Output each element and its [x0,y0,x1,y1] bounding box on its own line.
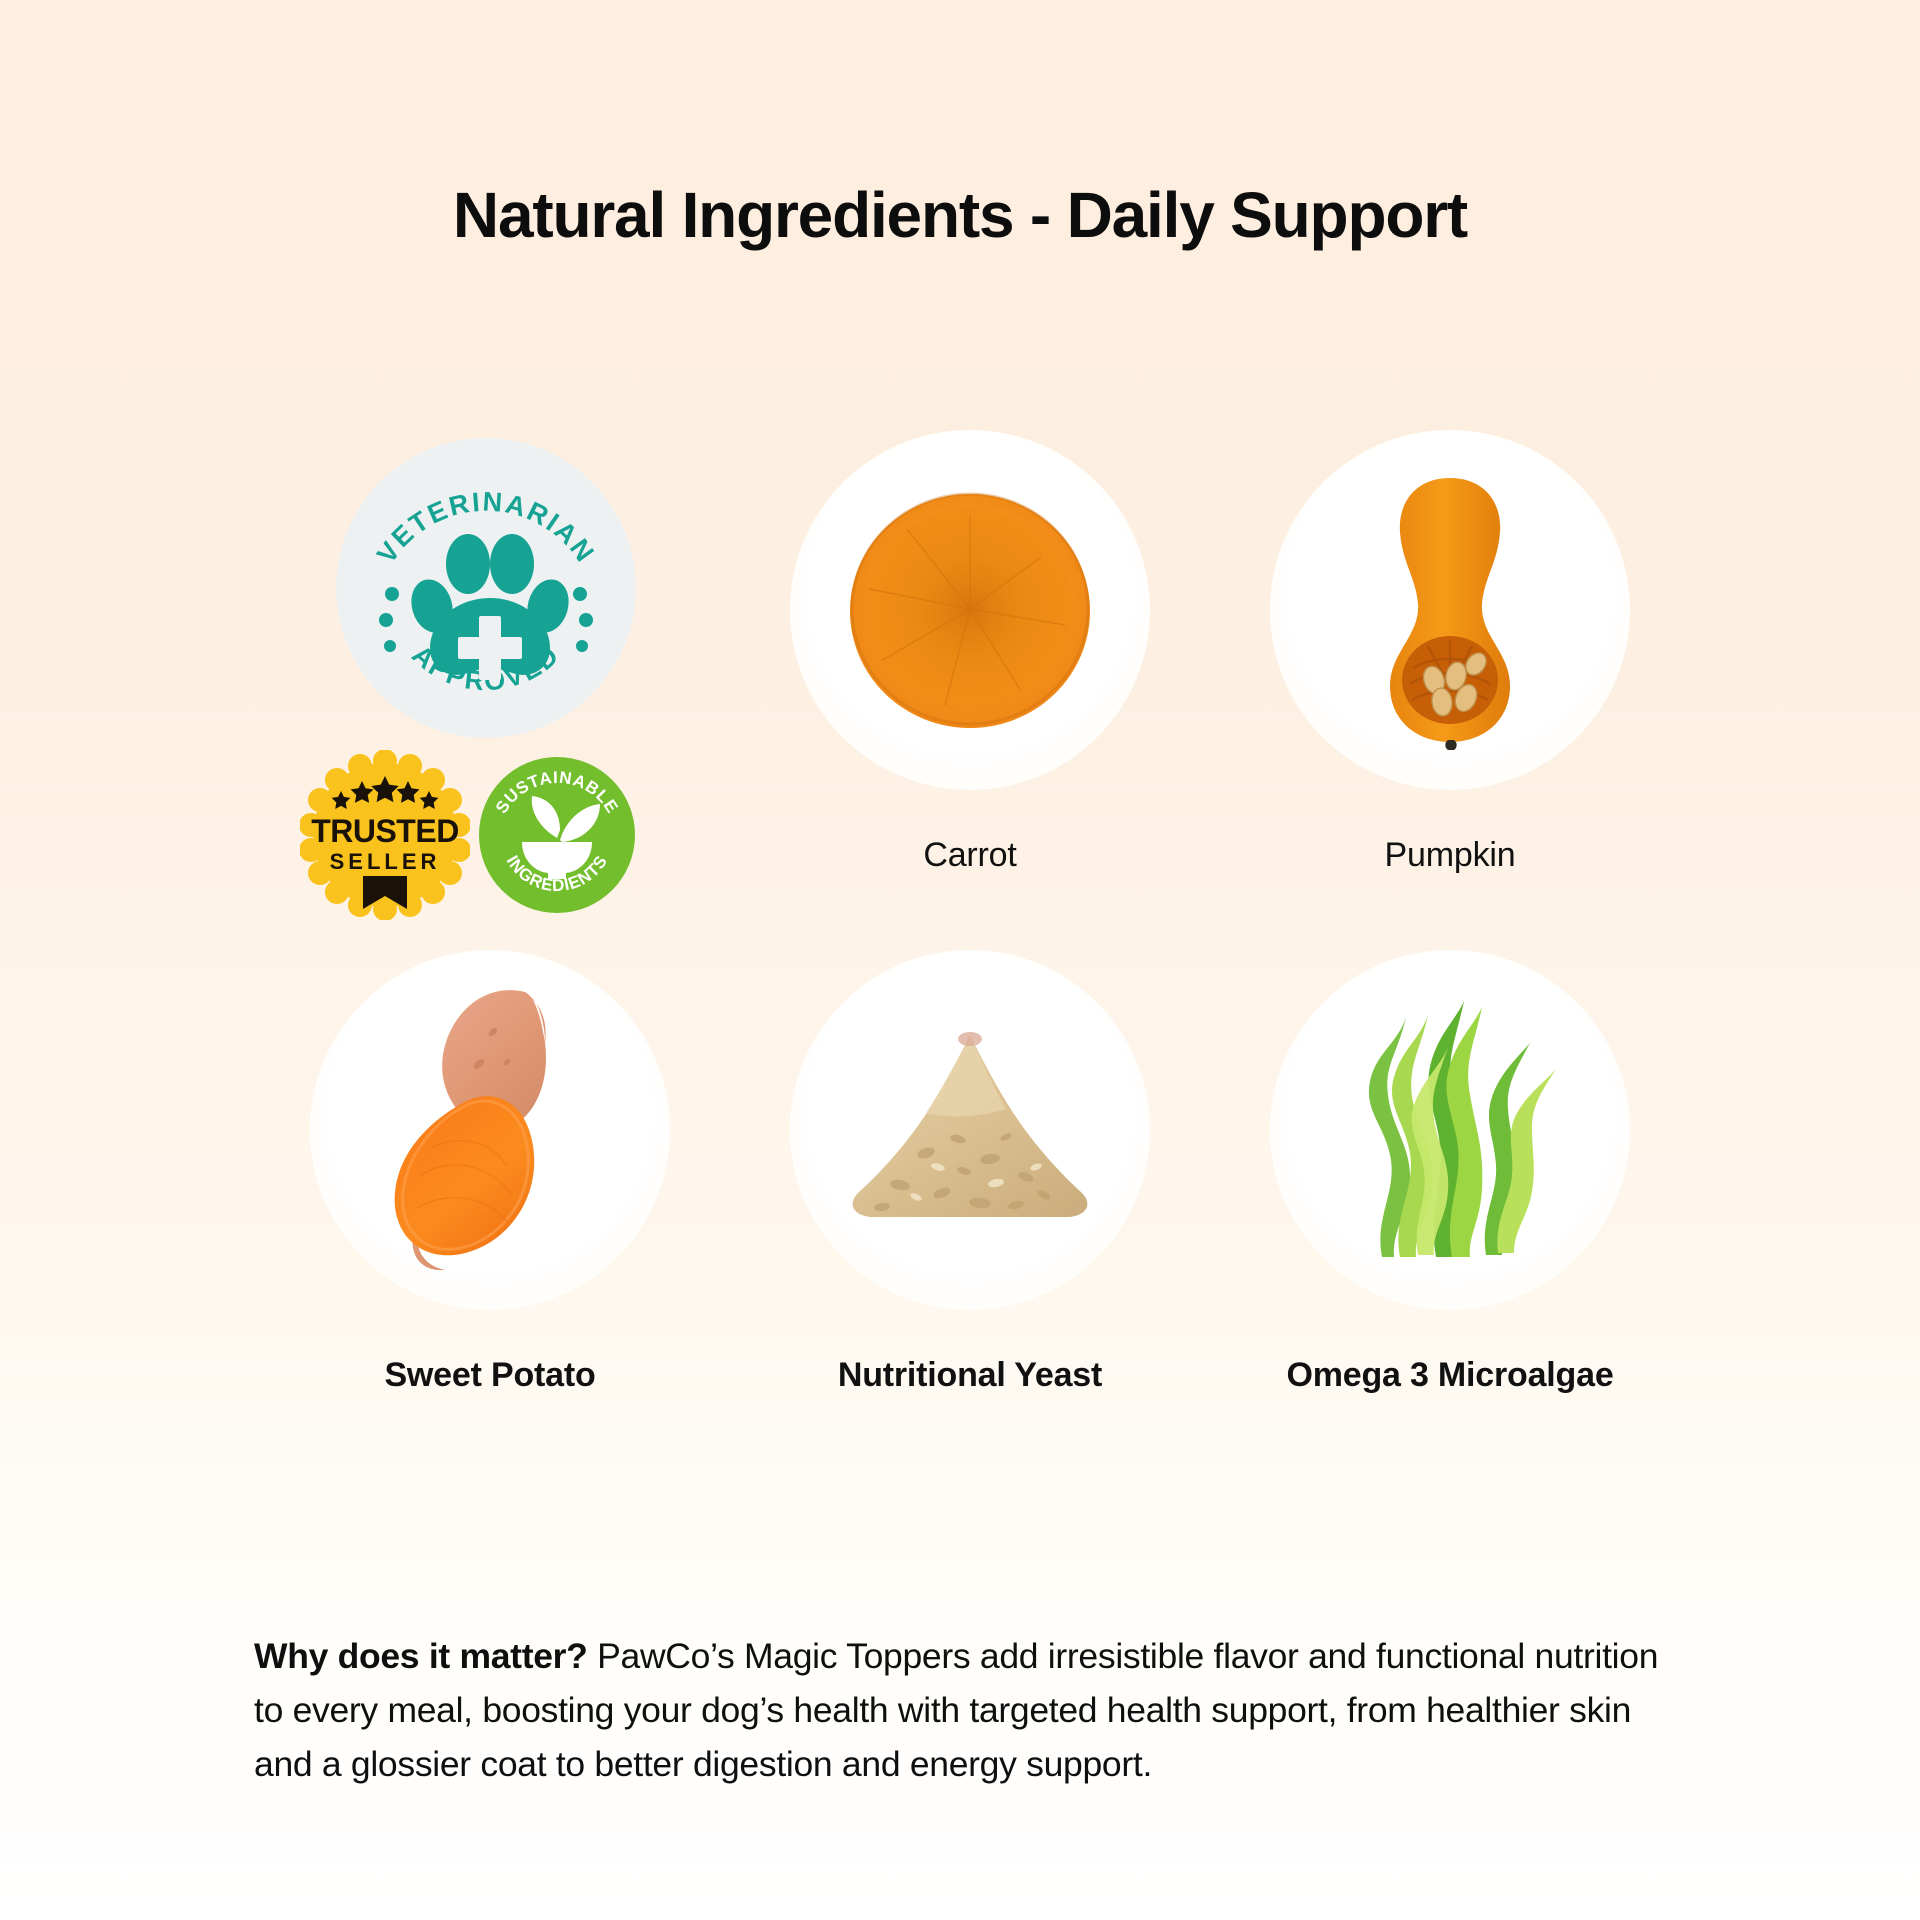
trusted-seller-svg: TRUSTED SELLER [300,750,470,920]
seaweed-algae-image [1340,995,1560,1265]
sustainable-badge-svg: SUSTAINABLE INGREDIENTS [472,750,642,920]
sweet-potato-image [375,980,605,1280]
veterinarian-approved-badge: VETERINARIAN APPROVED [336,438,636,738]
ingredients-infographic: Natural Ingredients - Daily Support VETE… [0,0,1920,1920]
why-it-matters-paragraph: Why does it matter? PawCo’s Magic Topper… [254,1630,1674,1792]
ingredient-cell-pumpkin: Pumpkin [1210,430,1690,950]
veterinarian-badge-svg: VETERINARIAN APPROVED [336,438,636,738]
butternut-squash-image [1350,470,1550,750]
ingredient-cell-sweet-potato: Sweet Potato [250,950,730,1470]
trusted-label: TRUSTED [311,813,459,849]
ingredient-label: Nutritional Yeast [838,1356,1102,1395]
ingredient-cell-carrot: Carrot [730,430,1210,950]
badge-cluster-cell: VETERINARIAN APPROVED [250,430,730,950]
ingredient-disc [1270,950,1630,1310]
ingredient-cell-omega-3-microalgae: Omega 3 Microalgae [1210,950,1690,1470]
trusted-seller-badge: TRUSTED SELLER [300,750,470,920]
why-it-matters-lead: Why does it matter? [254,1636,588,1676]
ingredient-disc [790,950,1150,1310]
ingredient-label: Pumpkin [1385,836,1516,875]
ingredient-grid: VETERINARIAN APPROVED [250,430,1690,1470]
ingredient-disc [310,950,670,1310]
badges: VETERINARIAN APPROVED [290,430,690,910]
ingredient-disc [790,430,1150,790]
ingredient-label: Carrot [923,836,1016,875]
carrot-slice-image [845,485,1095,735]
seller-label: SELLER [330,849,441,874]
page-title: Natural Ingredients - Daily Support [0,178,1920,252]
ingredient-disc [1270,430,1630,790]
yeast-powder-image [830,1025,1110,1235]
ingredient-cell-nutritional-yeast: Nutritional Yeast [730,950,1210,1470]
ingredient-label: Sweet Potato [384,1356,595,1395]
ingredient-label: Omega 3 Microalgae [1286,1356,1613,1395]
sustainable-ingredients-badge: SUSTAINABLE INGREDIENTS [472,750,642,920]
